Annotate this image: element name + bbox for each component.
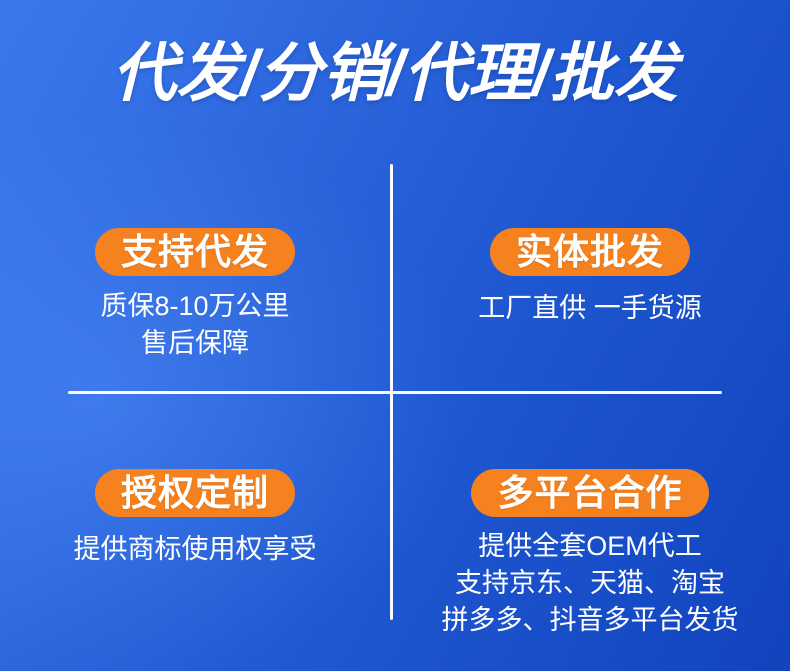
feature-desc-line: 拼多多、抖音多平台发货 — [442, 602, 739, 639]
feature-desc-line: 工厂直供 一手货源 — [478, 290, 702, 327]
feature-badge-authorized-custom: 授权定制 — [95, 469, 295, 517]
feature-badge-multi-platform: 多平台合作 — [471, 469, 708, 517]
feature-cell-authorized-custom: 授权定制 提供商标使用权享受 — [0, 392, 390, 640]
feature-cell-physical-wholesale: 实体批发 工厂直供 一手货源 — [390, 150, 790, 392]
feature-grid: 支持代发 质保8-10万公里 售后保障 实体批发 工厂直供 一手货源 授权定制 … — [0, 150, 790, 640]
feature-desc-line: 售后保障 — [100, 325, 289, 362]
feature-desc-line: 质保8-10万公里 — [100, 288, 289, 325]
feature-desc-line: 提供商标使用权享受 — [74, 531, 317, 568]
feature-badge-support-dropship: 支持代发 — [95, 228, 295, 276]
feature-desc-physical-wholesale: 工厂直供 一手货源 — [478, 290, 702, 327]
feature-desc-authorized-custom: 提供商标使用权享受 — [74, 531, 317, 568]
feature-desc-line: 支持京东、天猫、淘宝 — [442, 565, 739, 602]
page-title: 代发/分销/代理/批发 — [0, 36, 790, 110]
feature-cell-multi-platform: 多平台合作 提供全套OEM代工 支持京东、天猫、淘宝 拼多多、抖音多平台发货 — [390, 392, 790, 640]
feature-cell-support-dropship: 支持代发 质保8-10万公里 售后保障 — [0, 150, 390, 392]
feature-desc-line: 提供全套OEM代工 — [442, 528, 739, 565]
promo-banner: 代发/分销/代理/批发 支持代发 质保8-10万公里 售后保障 实体批发 工厂直… — [0, 0, 790, 671]
banner-content: 代发/分销/代理/批发 支持代发 质保8-10万公里 售后保障 实体批发 工厂直… — [0, 0, 790, 671]
feature-desc-support-dropship: 质保8-10万公里 售后保障 — [100, 288, 289, 362]
feature-badge-physical-wholesale: 实体批发 — [490, 228, 690, 276]
feature-desc-multi-platform: 提供全套OEM代工 支持京东、天猫、淘宝 拼多多、抖音多平台发货 — [442, 528, 739, 639]
